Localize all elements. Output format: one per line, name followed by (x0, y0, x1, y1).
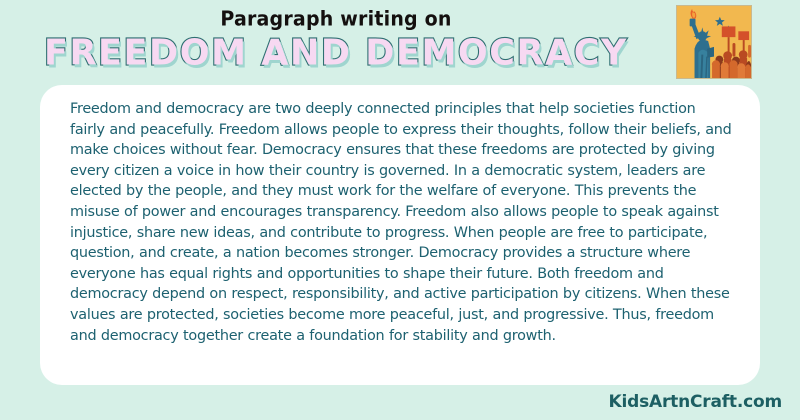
statue-of-liberty-protest-illustration (676, 5, 752, 79)
poster-page: Paragraph writing on FREEDOM AND DEMOCRA… (0, 0, 800, 420)
paragraph-body: Freedom and democracy are two deeply con… (70, 99, 732, 346)
brand-watermark: KidsArtnCraft.com (609, 392, 782, 412)
poster-subtitle: Paragraph writing on (0, 7, 672, 31)
paragraph-card: Freedom and democracy are two deeply con… (40, 85, 760, 385)
illustration-artwork (677, 6, 751, 78)
poster-title: FREEDOM AND DEMOCRACY (0, 33, 672, 74)
